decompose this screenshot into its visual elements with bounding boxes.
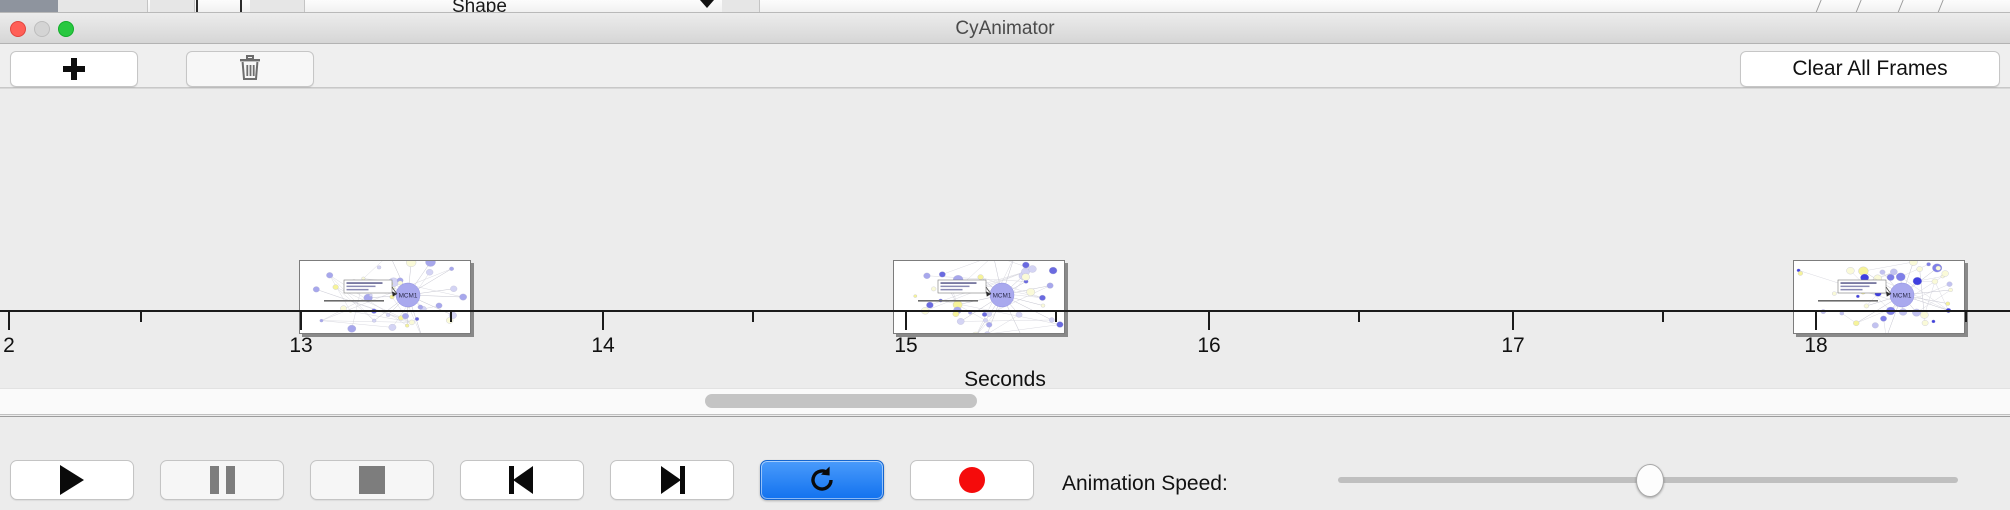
background-tab <box>722 0 760 13</box>
animation-speed-slider-thumb[interactable] <box>1636 464 1664 497</box>
background-tab <box>250 0 305 13</box>
background-divider <box>1897 0 1903 13</box>
timeline-scrollbar-track[interactable] <box>0 388 2010 414</box>
delete-frame-button[interactable] <box>186 51 314 87</box>
record-icon <box>959 467 985 493</box>
play-icon <box>60 465 84 495</box>
background-tab <box>58 0 148 13</box>
background-divider <box>1815 0 1821 13</box>
background-tick <box>196 0 198 13</box>
background-dark-block <box>0 0 58 12</box>
ruler-tick-label: 13 <box>289 334 312 358</box>
background-tab <box>150 0 195 13</box>
svg-text:MCM1: MCM1 <box>1893 293 1912 300</box>
svg-text:MCM1: MCM1 <box>993 293 1012 300</box>
pause-icon <box>210 466 235 494</box>
pause-button[interactable] <box>160 460 284 500</box>
stop-icon <box>359 466 385 494</box>
record-button[interactable] <box>910 460 1034 500</box>
loop-icon <box>807 465 837 495</box>
timeline-panel: MCM1MCM1MCM1 2131415161718 Seconds <box>0 88 2010 415</box>
plus-icon <box>63 58 85 80</box>
ruler-tick <box>1208 312 1210 330</box>
clear-all-frames-button[interactable]: Clear All Frames <box>1740 51 2000 87</box>
ruler-tick-label: 17 <box>1501 334 1524 358</box>
toolbar: Clear All Frames <box>0 44 2010 88</box>
ruler-tick <box>1512 312 1514 330</box>
timeline-top-divider <box>0 88 2010 89</box>
ruler-tick <box>602 312 604 330</box>
ruler-tick <box>1055 312 1057 322</box>
ruler-tick <box>1815 312 1817 330</box>
background-notch-icon <box>700 0 714 8</box>
svg-text:MCM1: MCM1 <box>399 293 418 300</box>
animation-speed-label: Animation Speed: <box>1062 472 1228 496</box>
ruler-tick <box>1358 312 1360 322</box>
title-bar: CyAnimator <box>0 13 2010 44</box>
window-title: CyAnimator <box>0 13 2010 44</box>
loop-button[interactable] <box>760 460 884 500</box>
ruler-tick <box>140 312 142 322</box>
background-divider <box>1855 0 1861 13</box>
background-window-label: Shape <box>452 0 507 13</box>
play-button[interactable] <box>10 460 134 500</box>
trash-icon <box>238 55 262 83</box>
skip-to-end-icon <box>659 466 685 494</box>
ruler-tick <box>300 312 302 330</box>
ruler-tick-label: 16 <box>1197 334 1220 358</box>
background-divider <box>1937 0 1943 13</box>
ruler-tick <box>905 312 907 330</box>
ruler-tick <box>1965 312 1967 322</box>
timeline-scrollbar-thumb[interactable] <box>705 394 977 408</box>
stop-button[interactable] <box>310 460 434 500</box>
ruler-tick <box>8 312 10 330</box>
skip-to-end-button[interactable] <box>610 460 734 500</box>
ruler-tick-label: 15 <box>894 334 917 358</box>
cyanimator-window: Shape CyAnimator <box>0 0 2010 510</box>
ruler-tick-label: 2 <box>3 334 15 358</box>
background-tick <box>240 0 242 13</box>
add-frame-button[interactable] <box>10 51 138 87</box>
ruler-tick-label: 18 <box>1804 334 1827 358</box>
ruler-tick <box>450 312 452 322</box>
ruler-tick-label: 14 <box>591 334 614 358</box>
ruler-tick <box>1662 312 1664 322</box>
skip-to-start-icon <box>509 466 535 494</box>
ruler-tick <box>752 312 754 322</box>
skip-to-start-button[interactable] <box>460 460 584 500</box>
background-window-strip: Shape <box>0 0 2010 13</box>
